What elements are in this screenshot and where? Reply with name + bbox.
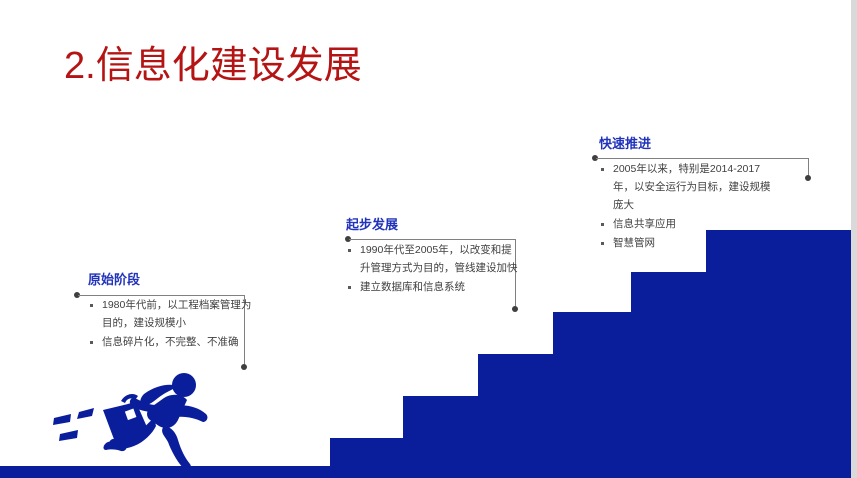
stage-bullets-original: 1980年代前，以工程档案管理为目的，建设规模小 信息碎片化，不完整、不准确 xyxy=(88,296,256,351)
connector-3-vertical xyxy=(808,158,809,178)
stage-heading-startup: 起步发展 xyxy=(346,217,518,233)
stage-block-original: 原始阶段 1980年代前，以工程档案管理为目的，建设规模小 信息碎片化，不完整、… xyxy=(88,272,256,352)
stage-bullets-rapid: 2005年以来，特别是2014-2017年，以安全运行为目标，建设规模庞大 信息… xyxy=(599,160,774,252)
list-item: 智慧管网 xyxy=(599,234,774,252)
stage-heading-rapid: 快速推进 xyxy=(599,136,774,152)
page-title: 2.信息化建设发展 xyxy=(64,42,362,90)
list-item: 2005年以来，特别是2014-2017年，以安全运行为目标，建设规模庞大 xyxy=(599,160,774,214)
slide-canvas: 2.信息化建设发展 原始阶段 1980年代前，以工程档案管理为目的，建设规模小 … xyxy=(0,0,857,478)
connector-3-end-dot xyxy=(805,175,811,181)
list-item: 信息碎片化，不完整、不准确 xyxy=(88,333,256,351)
connector-1-start-dot xyxy=(74,292,80,298)
list-item: 建立数据库和信息系统 xyxy=(346,278,518,296)
stage-block-startup: 起步发展 1990年代至2005年，以改变和提升管理方式为目的，管线建设加快 建… xyxy=(346,217,518,297)
stage-heading-original: 原始阶段 xyxy=(88,272,256,288)
list-item: 1990年代至2005年，以改变和提升管理方式为目的，管线建设加快 xyxy=(346,241,518,277)
stage-block-rapid: 快速推进 2005年以来，特别是2014-2017年，以安全运行为目标，建设规模… xyxy=(599,136,774,253)
connector-1-end-dot xyxy=(241,364,247,370)
list-item: 信息共享应用 xyxy=(599,215,774,233)
list-item: 1980年代前，以工程档案管理为目的，建设规模小 xyxy=(88,296,256,332)
running-businessman-icon xyxy=(46,372,212,468)
stage-bullets-startup: 1990年代至2005年，以改变和提升管理方式为目的，管线建设加快 建立数据库和… xyxy=(346,241,518,296)
connector-2-end-dot xyxy=(512,306,518,312)
right-edge-strip xyxy=(851,0,857,478)
connector-3-start-dot xyxy=(592,155,598,161)
